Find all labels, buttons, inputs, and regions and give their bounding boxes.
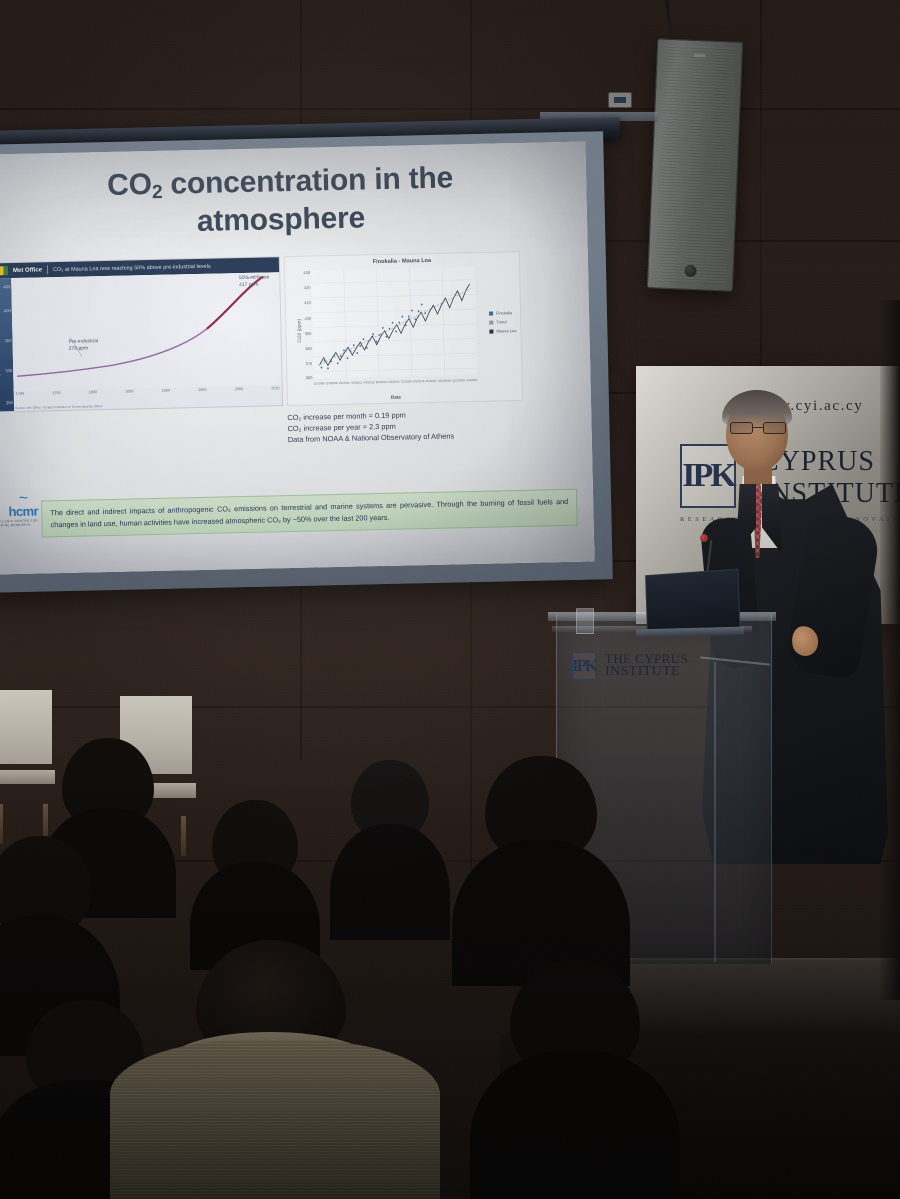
slide-title-line1-a: CO <box>107 168 152 202</box>
legend-entry: Finokalia <box>489 310 516 316</box>
lectern-institute-name: THE CYPRUS INSTITUTE <box>605 652 688 680</box>
met-office-footnote: Source: Met Office / Scripps Institution… <box>15 400 280 410</box>
projection-screen: CO2 concentration in the atmosphere Met … <box>0 142 595 575</box>
finokalia-x-axis-label: Date <box>314 393 478 402</box>
y-tick: 430 <box>303 270 310 275</box>
y-tick: 350 <box>5 338 12 343</box>
x-tick: 1850 <box>125 389 134 399</box>
finokalia-x-ticks: 1/1/2008 2/1/2009 3/1/2010 4/1/2011 4/1/… <box>314 378 478 392</box>
x-tick: 3/1/2010 <box>338 381 349 391</box>
finokalia-plot-area <box>311 267 477 379</box>
slide-callout-box: The direct and indirect impacts of anthr… <box>41 489 578 537</box>
y-tick: 370 <box>305 361 312 366</box>
annotation-pre-industrial: Pre-industrial 278 ppm <box>69 338 99 352</box>
header-divider <box>47 265 48 274</box>
annotation-value: 278 ppm <box>69 345 89 351</box>
x-tick: 1700 <box>16 392 25 402</box>
slide-title-subscript: 2 <box>152 182 163 203</box>
wall-seam <box>0 108 900 110</box>
y-tick: 390 <box>305 331 312 336</box>
presenter-glasses-icon <box>730 422 786 435</box>
annotation-50-percent: 50% increase 417 ppm <box>239 274 270 288</box>
met-office-plot-svg <box>11 272 281 391</box>
speaker-led-icon <box>694 54 706 57</box>
met-office-brand: Met Office <box>13 267 42 274</box>
legend-swatch-icon <box>489 320 493 324</box>
lectern-name-line1: THE CYPRUS <box>605 652 688 665</box>
ceiling-speaker <box>647 38 743 291</box>
x-tick: 8/1/2016 <box>413 379 424 389</box>
x-tick: 1900 <box>162 389 171 399</box>
x-tick: 10/1/2018 <box>438 378 451 388</box>
y-tick: 400 <box>4 308 11 313</box>
slide-title-line1-b: concentration in the <box>162 161 453 200</box>
met-office-logo-icon <box>0 266 8 275</box>
slide-title-line2: atmosphere <box>197 201 366 238</box>
x-tick: 2/1/2009 <box>326 381 337 391</box>
slide-stats-block: CO₂ increase per month = 0.19 ppm CO₂ in… <box>287 406 548 445</box>
x-tick: 6/1/2014 <box>388 380 399 390</box>
legend-label: Finokalia <box>496 310 512 315</box>
y-tick: 260 <box>6 400 13 405</box>
lectern-post <box>714 662 716 962</box>
finokalia-chart-title: Finokalia - Mauna Loa <box>285 256 519 267</box>
x-tick: 5/1/2013 <box>376 380 387 390</box>
x-tick: 4/1/2012 <box>363 380 374 390</box>
x-tick: 4/1/2011 <box>351 380 362 390</box>
presentation-slide: CO2 concentration in the atmosphere Met … <box>0 142 595 575</box>
y-tick: 300 <box>5 368 12 373</box>
x-tick: 1/1/2008 <box>314 381 325 391</box>
x-tick: 1/1/2021 <box>466 378 477 388</box>
audience-member <box>452 756 630 986</box>
legend-entry: Trend <box>489 319 516 325</box>
y-tick: 400 <box>304 316 311 321</box>
met-office-chart-title: CO₂ at Mauna Loa now reaching 50% above … <box>53 263 211 272</box>
finokalia-y-ticks: 430 420 410 400 390 380 370 360 <box>297 271 312 379</box>
x-tick: 7/1/2015 <box>401 379 412 389</box>
foreground-audience-jacket <box>110 1040 440 1199</box>
wall-seam-vertical <box>760 0 762 370</box>
y-tick: 420 <box>304 285 311 290</box>
hcmr-wordmark: hcmr <box>8 505 38 519</box>
annotation-label: Pre-industrial <box>69 338 99 345</box>
y-tick: 410 <box>304 300 311 305</box>
x-tick: 9/1/2017 <box>426 379 437 389</box>
x-tick: 1950 <box>198 388 207 398</box>
annotation-value: 417 ppm <box>239 281 259 287</box>
met-office-plot-area: 50% increase 417 ppm Pre-industrial 278 … <box>11 272 281 391</box>
slide-title: CO2 concentration in the atmosphere <box>30 159 532 244</box>
x-tick: 11/1/2019 <box>452 378 465 388</box>
wall-outlet-plate <box>608 92 632 108</box>
legend-swatch-icon <box>489 329 493 333</box>
audience-member <box>470 960 680 1199</box>
y-tick: 425 <box>3 284 10 289</box>
annotation-label: 50% increase <box>239 274 269 281</box>
x-tick: 1800 <box>89 390 98 400</box>
presentation-photo-scene: CO2 concentration in the atmosphere Met … <box>0 0 900 1199</box>
finokalia-legend: Finokalia Trend Mauna Loa <box>489 310 517 338</box>
y-tick: 360 <box>306 375 313 380</box>
water-glass <box>576 608 594 634</box>
x-tick: 2020 <box>271 386 280 396</box>
cyprus-institute-mark-icon: IPK <box>572 652 596 680</box>
chart-finokalia-mauna-loa: Finokalia - Mauna Loa CO2 (ppm) 430 420 … <box>284 251 523 406</box>
legend-label: Mauna Loa <box>496 328 516 333</box>
lectern-name-line2: INSTITUTE <box>605 665 688 679</box>
speaker-grille <box>654 45 736 285</box>
legend-label: Trend <box>496 319 506 324</box>
audience-member <box>330 760 450 940</box>
x-tick: 1750 <box>52 391 61 401</box>
legend-swatch-icon <box>489 311 493 315</box>
chart-met-office-co2: Met Office CO₂ at Mauna Loa now reaching… <box>0 256 283 412</box>
x-tick: 2000 <box>235 387 244 397</box>
y-tick: 380 <box>305 346 312 351</box>
lectern-logo-block: IPK THE CYPRUS INSTITUTE <box>572 652 688 680</box>
laptop-screen[interactable] <box>645 568 740 630</box>
legend-entry: Mauna Loa <box>489 328 516 334</box>
finokalia-plot-svg <box>311 267 477 379</box>
microphone-head-icon <box>700 534 708 542</box>
